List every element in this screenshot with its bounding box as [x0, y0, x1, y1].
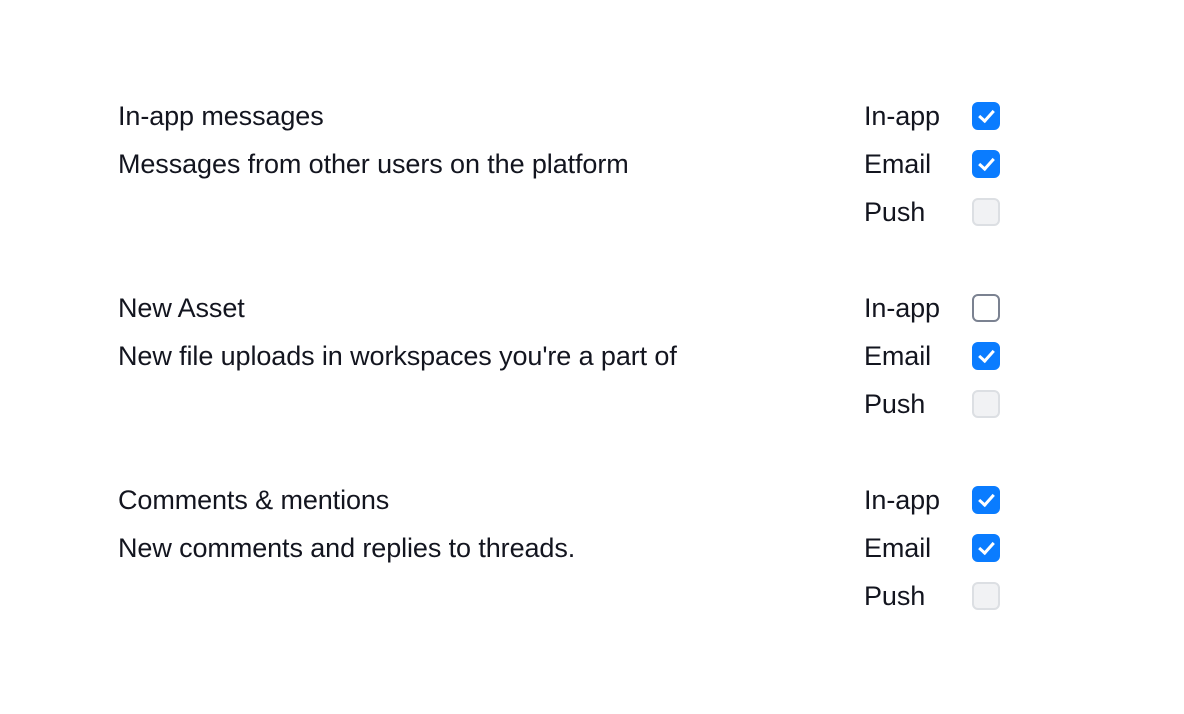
setting-group: Comments & mentions New comments and rep… — [118, 476, 1000, 620]
channel-row-email[interactable]: Email — [864, 524, 1000, 572]
channel-row-in-app[interactable]: In-app — [864, 284, 1000, 332]
checkbox-email[interactable] — [972, 534, 1000, 562]
channel-label-push: Push — [864, 380, 925, 428]
channel-row-email[interactable]: Email — [864, 140, 1000, 188]
setting-group-description: New file uploads in workspaces you're a … — [118, 332, 858, 380]
checkbox-email[interactable] — [972, 342, 1000, 370]
channel-row-in-app[interactable]: In-app — [864, 92, 1000, 140]
checkbox-in-app[interactable] — [972, 102, 1000, 130]
channel-row-push: Push — [864, 188, 1000, 236]
setting-group-title: Comments & mentions — [118, 476, 858, 524]
setting-group-title: In-app messages — [118, 92, 858, 140]
channel-row-push: Push — [864, 380, 1000, 428]
checkbox-in-app[interactable] — [972, 486, 1000, 514]
channel-label-push: Push — [864, 188, 925, 236]
channel-row-push: Push — [864, 572, 1000, 620]
channel-row-email[interactable]: Email — [864, 332, 1000, 380]
setting-group-description: Messages from other users on the platfor… — [118, 140, 858, 188]
setting-group-text: In-app messages Messages from other user… — [118, 92, 858, 188]
channel-label-email: Email — [864, 332, 931, 380]
setting-group-text: Comments & mentions New comments and rep… — [118, 476, 858, 572]
checkbox-push — [972, 198, 1000, 226]
setting-group: New Asset New file uploads in workspaces… — [118, 284, 1000, 428]
channel-label-email: Email — [864, 140, 931, 188]
channel-label-in-app: In-app — [864, 476, 940, 524]
checkbox-push — [972, 582, 1000, 610]
channel-row-in-app[interactable]: In-app — [864, 476, 1000, 524]
channel-list: In-app Email Push — [864, 284, 1000, 428]
channel-label-in-app: In-app — [864, 92, 940, 140]
channel-list: In-app Email Push — [864, 476, 1000, 620]
channel-label-push: Push — [864, 572, 925, 620]
channel-label-in-app: In-app — [864, 284, 940, 332]
setting-group-description: New comments and replies to threads. — [118, 524, 858, 572]
checkbox-email[interactable] — [972, 150, 1000, 178]
checkbox-in-app[interactable] — [972, 294, 1000, 322]
setting-group-text: New Asset New file uploads in workspaces… — [118, 284, 858, 380]
channel-label-email: Email — [864, 524, 931, 572]
setting-group: In-app messages Messages from other user… — [118, 92, 1000, 236]
notification-settings-panel: In-app messages Messages from other user… — [118, 92, 1000, 620]
channel-list: In-app Email Push — [864, 92, 1000, 236]
checkbox-push — [972, 390, 1000, 418]
setting-group-title: New Asset — [118, 284, 858, 332]
